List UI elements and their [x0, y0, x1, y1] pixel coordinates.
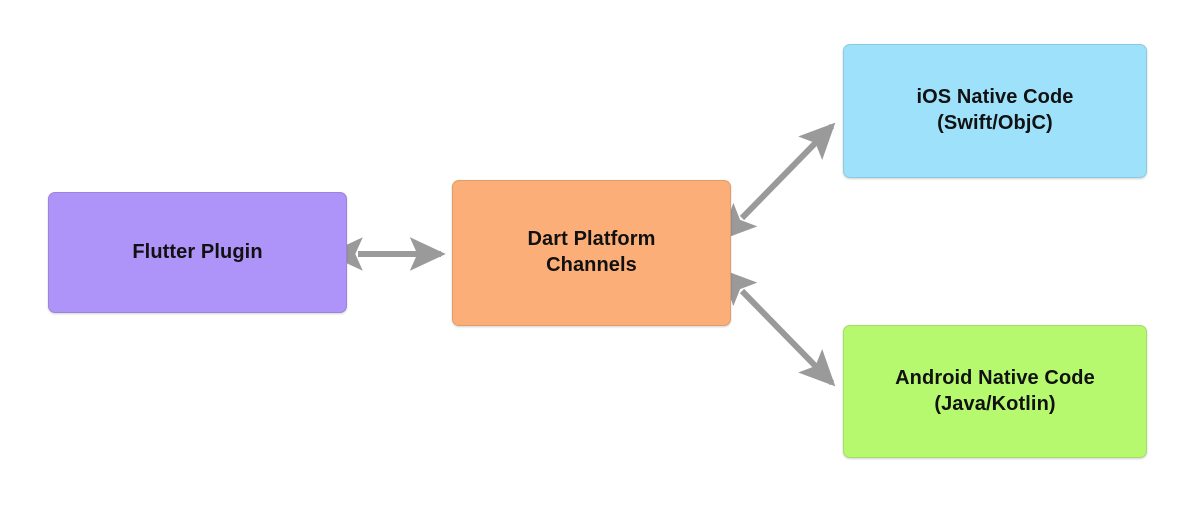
edge-dart-platform-channels-to-ios-native-code: [742, 126, 832, 218]
node-dart-platform-channels-label: Dart Platform Channels: [518, 227, 666, 278]
node-dart-platform-channels[interactable]: Dart Platform Channels: [452, 180, 731, 326]
node-ios-native-code[interactable]: iOS Native Code (Swift/ObjC): [843, 44, 1147, 178]
node-android-native-code[interactable]: Android Native Code (Java/Kotlin): [843, 325, 1147, 458]
node-flutter-plugin-label: Flutter Plugin: [122, 240, 272, 266]
diagram-canvas: Flutter Plugin Dart Platform Channels iO…: [0, 0, 1200, 510]
node-flutter-plugin[interactable]: Flutter Plugin: [48, 192, 347, 313]
node-android-native-code-label: Android Native Code (Java/Kotlin): [885, 366, 1105, 417]
edge-dart-platform-channels-to-android-native-code: [742, 291, 832, 383]
node-ios-native-code-label: iOS Native Code (Swift/ObjC): [906, 85, 1083, 136]
